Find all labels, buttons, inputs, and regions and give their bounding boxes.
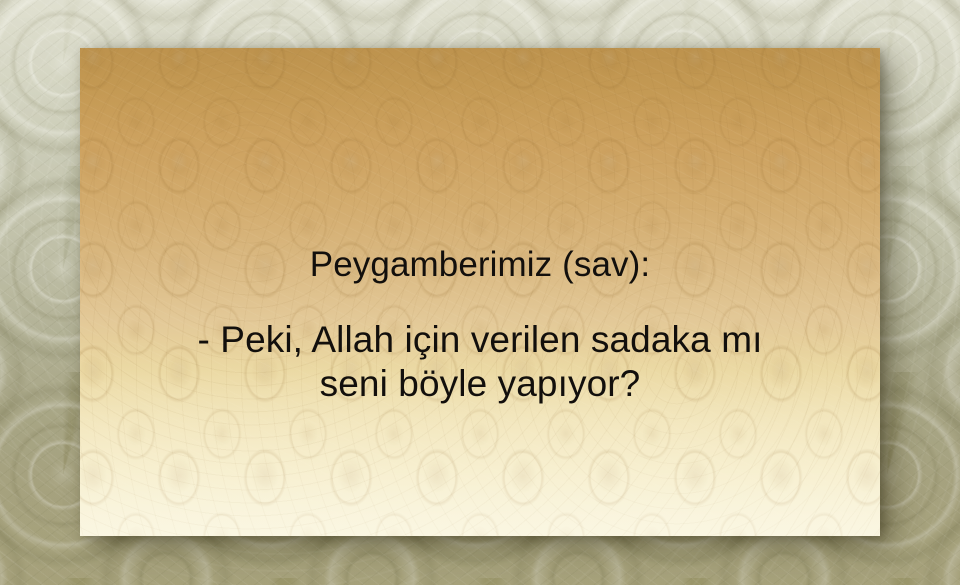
quote-body: - Peki, Allah için verilen sadaka mı sen… bbox=[80, 318, 880, 406]
quote-line-1: - Peki, Allah için verilen sadaka mı bbox=[80, 318, 880, 362]
quote-speaker: Peygamberimiz (sav): bbox=[80, 243, 880, 287]
image-canvas: Peygamberimiz (sav): - Peki, Allah için … bbox=[0, 0, 960, 585]
quote-line-2: seni böyle yapıyor? bbox=[80, 362, 880, 406]
quote-text-block: Peygamberimiz (sav): - Peki, Allah için … bbox=[80, 243, 880, 406]
quote-card: Peygamberimiz (sav): - Peki, Allah için … bbox=[80, 48, 880, 536]
